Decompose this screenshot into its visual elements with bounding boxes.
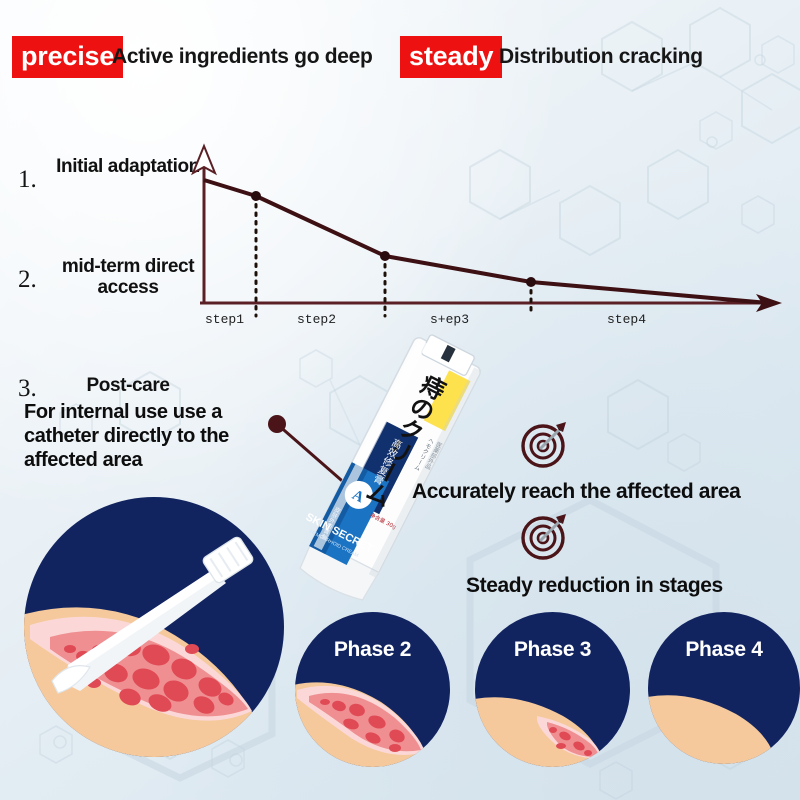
step-1-number: 1.: [18, 166, 37, 194]
target-arrow-icon: [518, 510, 570, 562]
phase-3-label: Phase 3: [475, 638, 630, 662]
x-tick-step3: s+ep3: [430, 312, 469, 327]
badge-steady-text: steady: [409, 37, 493, 75]
data-point-markers: [251, 191, 536, 287]
trend-line: [204, 180, 768, 303]
header-label-steady: Distribution cracking: [499, 40, 703, 74]
step-item-1: 1. Initial adaptation: [18, 158, 208, 201]
chart-plot: [190, 140, 790, 325]
infographic-root: precise Active ingredients go deep stead…: [0, 0, 800, 800]
x-tick-step1: step1: [205, 312, 244, 327]
illustration-phase-2: Phase 2: [295, 612, 450, 767]
badge-precise: precise: [12, 36, 123, 78]
decline-chart: 1. Initial adaptation 2. mid-term direct…: [0, 140, 800, 340]
x-tick-step2: step2: [297, 312, 336, 327]
header-label-precise: Active ingredients go deep: [112, 40, 373, 74]
steps-list: 1. Initial adaptation 2. mid-term direct…: [18, 158, 208, 311]
step-2-number: 2.: [18, 266, 37, 294]
badge-precise-text: precise: [21, 37, 114, 75]
badge-steady: steady: [400, 36, 502, 78]
feature-text-steady: Steady reduction in stages: [466, 574, 723, 598]
phase-2-label: Phase 2: [295, 638, 450, 662]
phase-4-label: Phase 4: [648, 638, 800, 662]
step-1-label: Initial adaptation: [48, 156, 208, 177]
step-3-number: 3.: [18, 375, 37, 403]
callout-text: For internal use use a catheter directly…: [24, 400, 294, 472]
target-arrow-icon: [518, 418, 570, 470]
step-2-label: mid-term direct access: [48, 256, 208, 298]
illustration-main: [24, 497, 284, 757]
step-item-2: 2. mid-term direct access: [18, 258, 208, 301]
x-tick-step4: step4: [607, 312, 646, 327]
step-3-label: Post-care: [48, 375, 208, 396]
feature-text-accuracy: Accurately reach the affected area: [412, 480, 740, 504]
illustration-phase-3: Phase 3: [475, 612, 630, 767]
illustration-phase-4: Phase 4: [648, 612, 800, 764]
header-bar: precise Active ingredients go deep stead…: [0, 36, 800, 100]
